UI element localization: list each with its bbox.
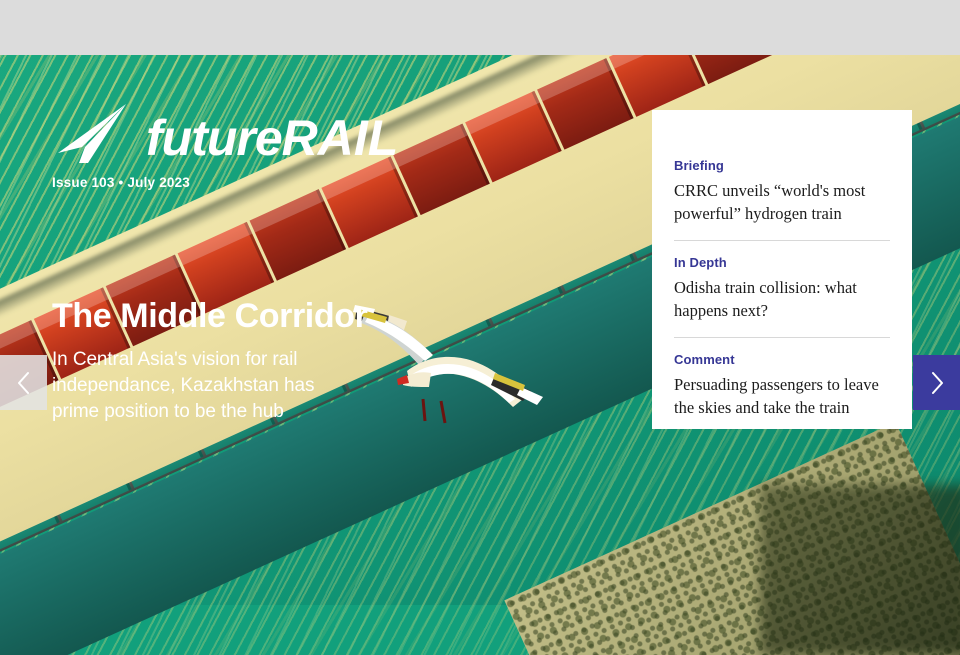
article-title: CRRC unveils “world's most powerful” hyd… <box>674 179 890 226</box>
article-kicker: Comment <box>674 352 890 367</box>
brand-word-rail: RAIL <box>282 110 399 166</box>
article-title: Persuading passengers to leave the skies… <box>674 373 890 420</box>
chevron-left-icon <box>16 371 31 395</box>
brand-word-future: future <box>146 110 282 166</box>
list-item[interactable]: In Depth Odisha train collision: what ha… <box>674 240 890 337</box>
brand-wordmark: futureRAIL <box>146 113 398 165</box>
masthead: futureRAIL Issue 103 • July 2023 <box>52 103 398 190</box>
cover-story[interactable]: The Middle Corridor In Central Asia's vi… <box>52 298 472 425</box>
list-item[interactable]: Comment Persuading passengers to leave t… <box>674 337 890 434</box>
article-kicker: Briefing <box>674 158 890 173</box>
future-rail-arrow-logo-icon <box>52 103 130 165</box>
article-kicker: In Depth <box>674 255 890 270</box>
logo-row[interactable]: futureRAIL <box>52 103 398 165</box>
prev-slide-button[interactable] <box>0 355 47 410</box>
ground-shadow <box>760 485 960 655</box>
article-list-panel: Briefing CRRC unveils “world's most powe… <box>652 110 912 429</box>
next-slide-button[interactable] <box>913 355 960 410</box>
cover-hero: futureRAIL Issue 103 • July 2023 The Mid… <box>0 55 960 655</box>
article-title: Odisha train collision: what happens nex… <box>674 276 890 323</box>
cover-headline: The Middle Corridor <box>52 298 472 335</box>
page-viewport: futureRAIL Issue 103 • July 2023 The Mid… <box>0 0 960 655</box>
issue-line: Issue 103 • July 2023 <box>52 175 398 190</box>
cover-standfirst: In Central Asia's vision for rail indepe… <box>52 347 357 426</box>
chevron-right-icon <box>929 371 944 395</box>
list-item[interactable]: Briefing CRRC unveils “world's most powe… <box>674 158 890 240</box>
top-bar <box>0 0 960 55</box>
